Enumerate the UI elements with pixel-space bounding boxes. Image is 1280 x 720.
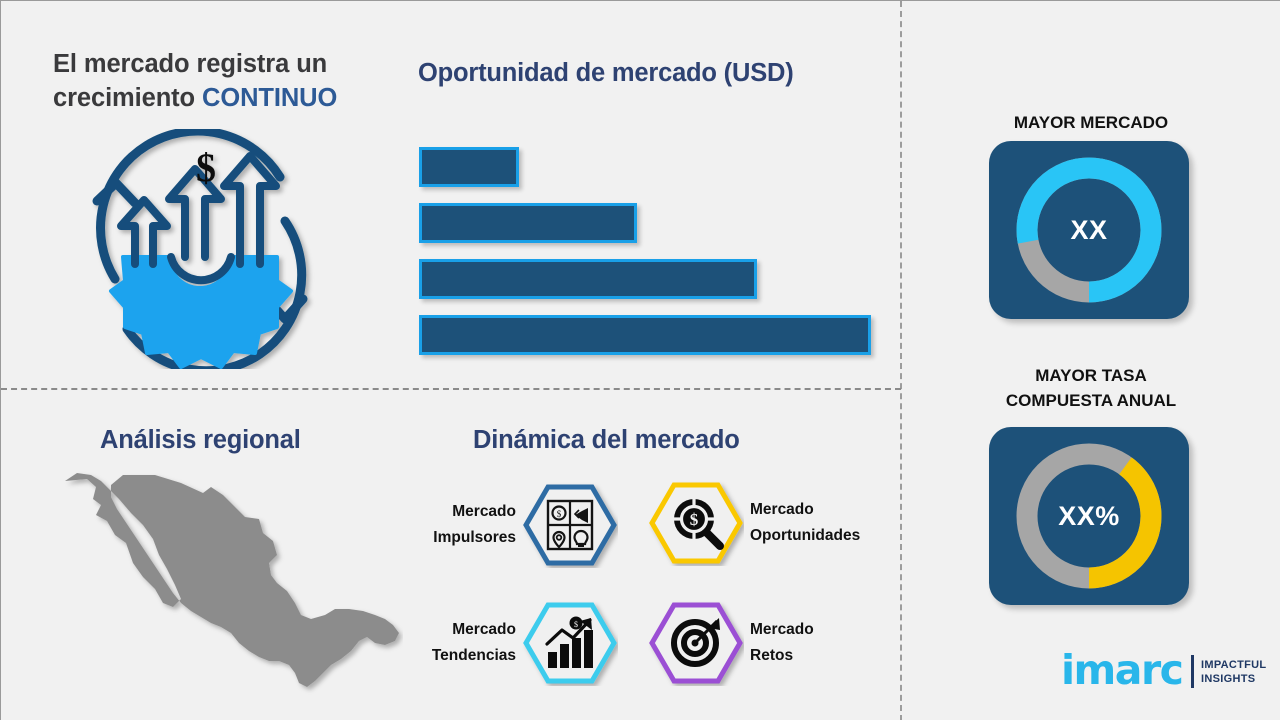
opportunity-panel-title: Oportunidad de mercado (USD) (418, 57, 888, 89)
opportunity-bar-chart (419, 147, 879, 357)
dynamics-item-label: Mercado Tendencias (396, 617, 516, 669)
imarc-wordmark: imarc (1061, 647, 1182, 693)
vertical-divider (900, 1, 902, 720)
dynamics-panel-title: Dinámica del mercado (473, 424, 873, 456)
svg-text:$: $ (557, 509, 562, 519)
horizontal-divider (1, 388, 901, 390)
svg-text:$: $ (196, 145, 216, 190)
kpi-card-mayor-mercado: XX (989, 141, 1189, 319)
bar-row (419, 147, 519, 187)
regional-panel-title: Análisis regional (100, 424, 420, 456)
kpi-title-mayor-tasa: MAYOR TASA COMPUESTA ANUAL (946, 363, 1236, 413)
growth-title-highlight: CONTINUO (202, 84, 337, 112)
svg-text:$: $ (574, 620, 578, 629)
imarc-logo: imarc IMPACTFUL INSIGHTS (1061, 649, 1261, 697)
mexico-map (63, 469, 403, 704)
growth-panel-title: El mercado registra un crecimiento CONTI… (53, 47, 413, 115)
dynamics-item-label: Mercado Impulsores (396, 499, 516, 551)
growth-title-line2: crecimiento (53, 84, 202, 112)
dynamics-item-label: Mercado Oportunidades (750, 497, 900, 549)
logo-divider (1191, 655, 1194, 688)
dynamics-item-retos[interactable]: Mercado Retos (648, 597, 880, 689)
dynamics-item-label: Mercado Retos (750, 617, 880, 669)
hexagon-frame: $ (522, 600, 618, 686)
bar-row (419, 315, 871, 355)
growth-title-line1: El mercado registra un (53, 50, 327, 78)
kpi-value-mayor-tasa: XX% (989, 427, 1189, 605)
kpi-card-mayor-tasa: XX% (989, 427, 1189, 605)
bar-row (419, 203, 637, 243)
hexagon-frame (648, 600, 744, 686)
hexagon-frame: $ (648, 480, 744, 566)
hexagon-frame: $ (522, 482, 618, 568)
dynamics-hex-group: Mercado Impulsores $ (396, 479, 896, 694)
kpi-title-mayor-mercado: MAYOR MERCADO (946, 110, 1236, 135)
infographic-slide: El mercado registra un crecimiento CONTI… (0, 0, 1280, 720)
dynamics-item-impulsores[interactable]: Mercado Impulsores $ (396, 479, 618, 571)
dynamics-item-oportunidades[interactable]: $ Mercado Oportunidades (648, 477, 900, 569)
kpi-value-mayor-mercado: XX (989, 141, 1189, 319)
imarc-tagline: IMPACTFUL INSIGHTS (1201, 658, 1266, 686)
dynamics-item-tendencias[interactable]: Mercado Tendencias $ (396, 597, 618, 689)
svg-text:$: $ (690, 510, 699, 529)
growth-gear-arrows-icon: $ (75, 129, 325, 369)
bar-row (419, 259, 757, 299)
